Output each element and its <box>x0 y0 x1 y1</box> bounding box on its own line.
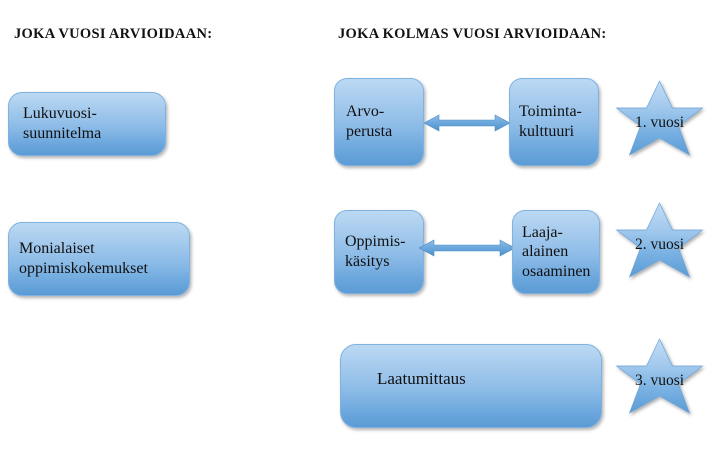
diagram-canvas: JOKA VUOSI ARVIOIDAAN: JOKA KOLMAS VUOSI… <box>0 0 710 461</box>
star-icon-year-3 <box>609 336 710 432</box>
star-icon-year-2 <box>609 200 710 296</box>
box-monialaiset-oppimiskokemukset[interactable]: Monialaiset oppimiskokemukset <box>8 222 190 296</box>
box-arvoperusta[interactable]: Arvo- perusta <box>334 78 424 166</box>
column-heading-right: JOKA KOLMAS VUOSI ARVIOIDAAN: <box>338 26 607 43</box>
box-laaja-alainen-osaaminen[interactable]: Laaja- alainen osaaminen <box>512 210 600 294</box>
box-label: Arvo- perusta <box>335 102 423 141</box>
star-icon-year-1 <box>609 78 710 174</box>
box-oppimiskasitys[interactable]: Oppimis- käsitys <box>334 210 424 294</box>
box-label: Toiminta- kulttuuri <box>510 102 598 141</box>
double-headed-arrow-row2 <box>419 237 515 259</box>
box-lukuvuosisuunnitelma[interactable]: Lukuvuosi- suunnitelma <box>8 92 166 156</box>
column-heading-left: JOKA VUOSI ARVIOIDAAN: <box>14 26 212 43</box>
double-headed-arrow-row1 <box>424 112 510 134</box>
box-label: Oppimis- käsitys <box>335 232 423 271</box>
box-toimintakulttuuri[interactable]: Toiminta- kulttuuri <box>509 78 599 166</box>
box-label: Monialaiset oppimiskokemukset <box>9 239 189 278</box>
box-laatumittaus[interactable]: Laatumittaus <box>340 344 602 428</box>
box-label: Laaja- alainen osaaminen <box>513 223 599 282</box>
box-label: Lukuvuosi- suunnitelma <box>9 104 165 143</box>
box-label: Laatumittaus <box>341 345 601 390</box>
